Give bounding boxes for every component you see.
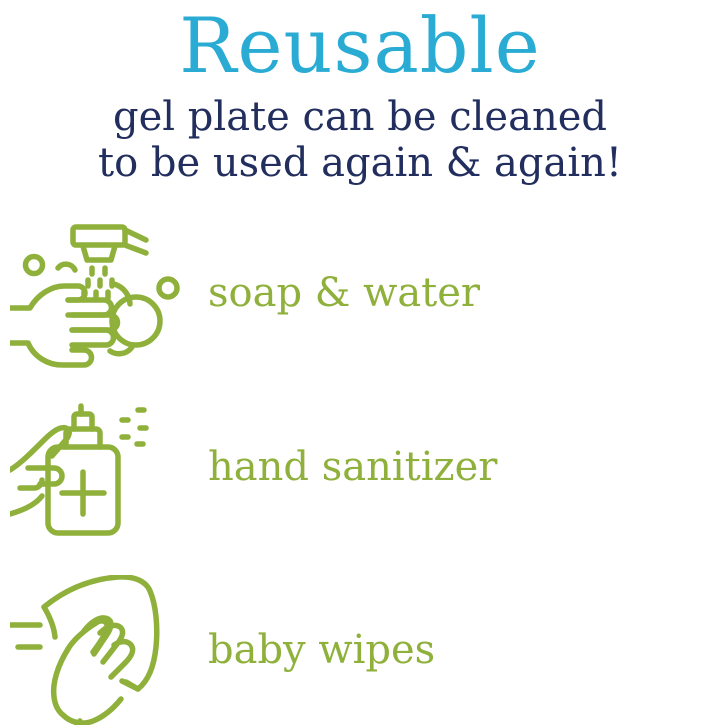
item-label-hand-sanitizer: hand sanitizer — [208, 445, 497, 489]
header-block: Reusable gel plate can be cleaned to be … — [0, 0, 720, 186]
icon-cell — [0, 218, 200, 368]
subtitle-line-1: gel plate can be cleaned — [0, 94, 720, 140]
list-item: soap & water — [0, 218, 720, 368]
list-item: hand sanitizer — [0, 392, 720, 542]
label-cell: baby wipes — [200, 628, 720, 672]
item-label-soap-water: soap & water — [208, 271, 480, 315]
hand-washing-soap-icon — [10, 218, 190, 368]
promo-graphic-page: Reusable gel plate can be cleaned to be … — [0, 0, 720, 720]
hand-sanitizer-spray-bottle-icon — [10, 392, 190, 542]
list-item: baby wipes — [0, 575, 720, 725]
page-subtitle: gel plate can be cleaned to be used agai… — [0, 88, 720, 186]
page-title: Reusable — [0, 0, 720, 88]
label-cell: soap & water — [200, 271, 720, 315]
subtitle-line-2: to be used again & again! — [0, 140, 720, 186]
icon-cell — [0, 575, 200, 725]
icon-cell — [0, 392, 200, 542]
item-label-baby-wipes: baby wipes — [208, 628, 435, 672]
label-cell: hand sanitizer — [200, 445, 720, 489]
hand-wiping-cloth-icon — [10, 575, 190, 725]
